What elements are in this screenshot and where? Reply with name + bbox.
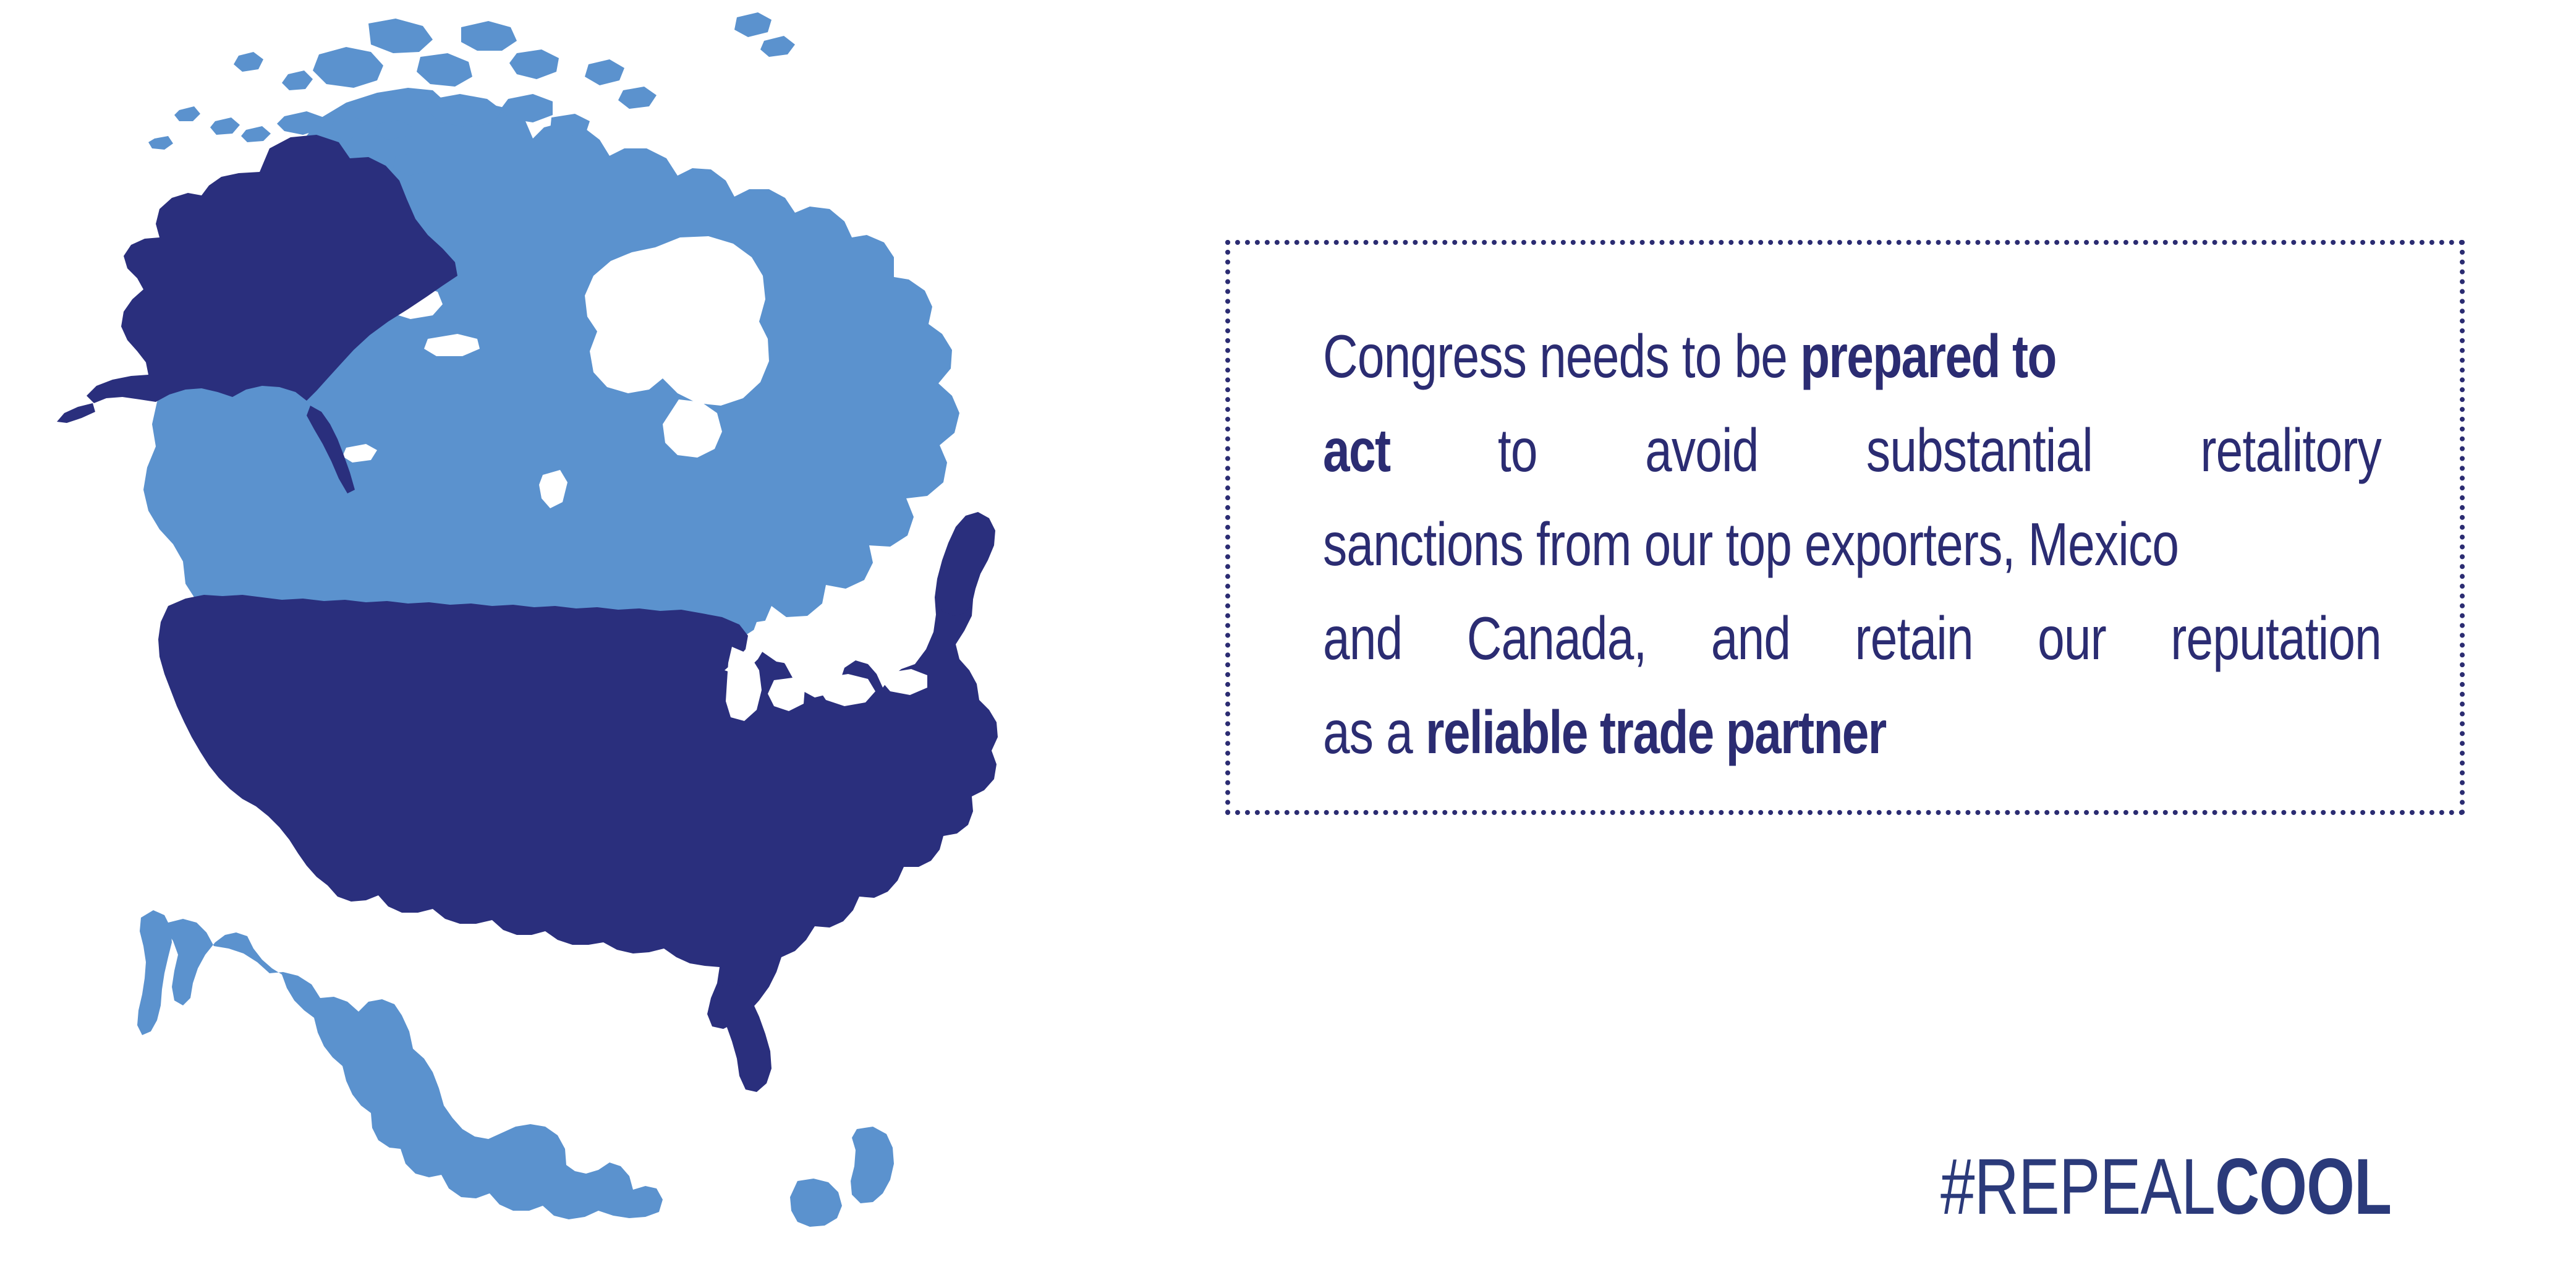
quote-word-and-1: and bbox=[1323, 591, 1402, 685]
quote-line-5: as a reliable trade partner bbox=[1323, 685, 2381, 779]
logo-cool-text: COOL bbox=[2215, 1154, 2391, 1221]
quote-line-5-emphasis: reliable trade partner bbox=[1426, 698, 1886, 766]
quote-word-reputation: reputation bbox=[2170, 591, 2381, 685]
quote-word-act: act bbox=[1323, 403, 1390, 497]
logo-repeal-text: #REPEAL bbox=[1941, 1154, 2215, 1221]
quote-line-2: act to avoid substantial retalitory bbox=[1323, 403, 2381, 497]
quote-word-canada: Canada, bbox=[1467, 591, 1647, 685]
quote-text-block: Congress needs to be prepared to act to … bbox=[1323, 309, 2381, 779]
quote-word-retalitory: retalitory bbox=[2200, 403, 2381, 497]
north-america-map bbox=[0, 0, 1212, 1288]
quote-line-1-regular: Congress needs to be bbox=[1323, 322, 1800, 390]
quote-word-to: to bbox=[1498, 403, 1537, 497]
repeal-cool-hashtag-logo: #REPEALCOOL bbox=[1941, 1154, 2391, 1221]
quote-word-our: our bbox=[2038, 591, 2106, 685]
quote-word-retain: retain bbox=[1855, 591, 1973, 685]
quote-word-and-2: and bbox=[1711, 591, 1790, 685]
quote-line-3: sanctions from our top exporters, Mexico bbox=[1323, 497, 2381, 591]
quote-word-substantial: substantial bbox=[1866, 403, 2093, 497]
infographic-canvas: Congress needs to be prepared to act to … bbox=[0, 0, 2576, 1288]
quote-line-1-emphasis: prepared to bbox=[1800, 322, 2056, 390]
quote-callout-box: Congress needs to be prepared to act to … bbox=[1225, 240, 2465, 815]
quote-word-avoid: avoid bbox=[1645, 403, 1758, 497]
map-svg bbox=[0, 0, 1212, 1288]
quote-line-3-regular: sanctions from our top exporters, Mexico bbox=[1323, 510, 2179, 578]
quote-line-5-regular: as a bbox=[1323, 698, 1426, 766]
quote-line-1: Congress needs to be prepared to bbox=[1323, 309, 2381, 403]
quote-line-4: and Canada, and retain our reputation bbox=[1323, 591, 2381, 685]
